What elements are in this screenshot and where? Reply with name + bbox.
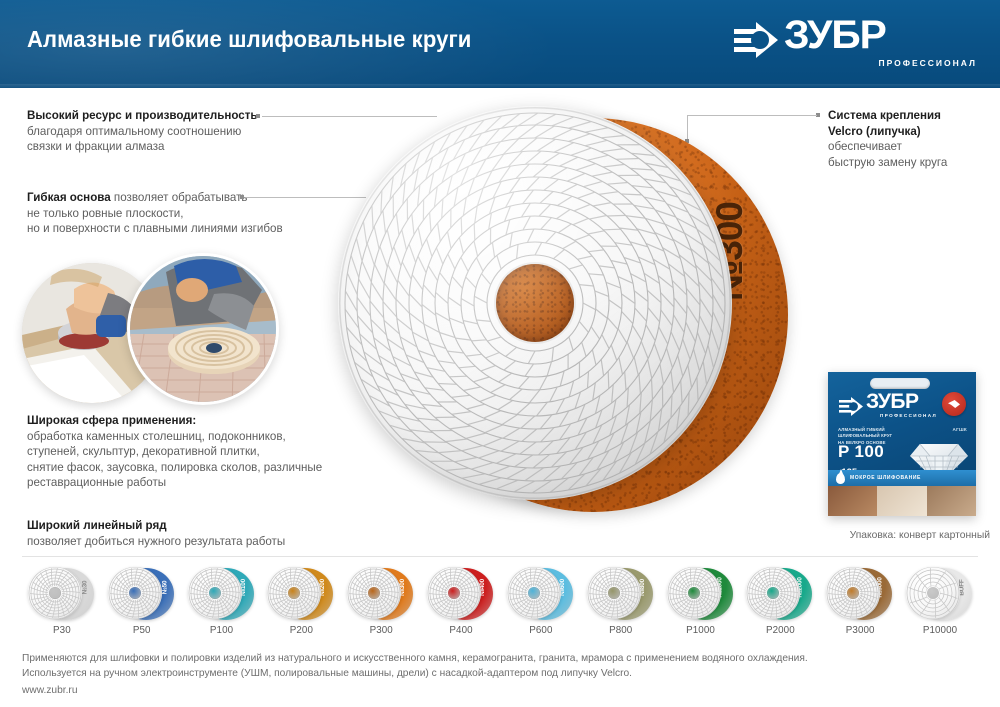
callout-application-scope-title: Широкая сфера применения:	[27, 414, 196, 427]
product-package: ЗУБР ПРОФЕССИОНАЛ АЛМАЗНЫЙ ГИБКИЙ ШЛИФОВ…	[828, 372, 976, 516]
range-divider	[22, 556, 978, 557]
grit-disc-face	[587, 567, 641, 619]
callout-flexible-base-line2: но и поверхности с плавными линиями изги…	[27, 221, 283, 237]
grit-disc-p30: №30	[26, 565, 98, 623]
grit-disc-p200: №200	[265, 565, 337, 623]
grit-disc-face	[188, 567, 242, 619]
grit-disc-face	[347, 567, 401, 619]
logo-subtitle: ПРОФЕССИОНАЛ	[878, 58, 977, 68]
grit-disc-p300: №300	[345, 565, 417, 623]
callout-wide-range-line1: позволяет добиться нужного результата ра…	[27, 534, 285, 550]
grit-item-p200[interactable]: №200P200	[261, 563, 341, 641]
callout-application-scope-line4: реставрационные работы	[27, 475, 322, 491]
package-logo-subtitle: ПРОФЕССИОНАЛ	[880, 413, 937, 418]
package-grit-value: P 100	[838, 442, 884, 462]
callout-application-scope: Широкая сфера применения: обработка каме…	[27, 413, 322, 491]
grit-range-row: №30P30№50P50№100P100№200P200№300P300№400…	[22, 563, 980, 641]
grit-item-p600[interactable]: №600P600	[501, 563, 581, 641]
grit-disc-p100: №100	[186, 565, 258, 623]
grit-item-p400[interactable]: №400P400	[421, 563, 501, 641]
grit-disc-hub	[448, 587, 460, 599]
grit-disc-face	[826, 567, 880, 619]
application-photos	[22, 253, 297, 413]
grit-item-label: P10000	[900, 625, 980, 636]
page-header: Алмазные гибкие шлифовальные круги ЗУБР …	[0, 0, 1000, 88]
grit-disc-p2000: №2000	[744, 565, 816, 623]
grit-disc-p800: №800	[585, 565, 657, 623]
callout-high-resource-title: Высокий ресурс и производительность	[27, 109, 258, 122]
package-band-label: Мокрое шлифование	[850, 475, 921, 481]
footer-notes: Применяются для шлифовки и полировки изд…	[22, 652, 982, 699]
grit-disc-face	[906, 567, 960, 619]
grit-item-label: P2000	[740, 625, 820, 636]
photo-grinder-polishing-tile-art	[130, 256, 279, 405]
footer-website: www.zubr.ru	[22, 684, 982, 699]
grit-disc-p600: №600	[505, 565, 577, 623]
grit-disc-p50: №50	[106, 565, 178, 623]
grit-disc-hub	[209, 587, 221, 599]
callout-wide-range: Широкий линейный ряд позволяет добиться …	[27, 518, 285, 549]
callout-high-resource-line2: связки и фракции алмаза	[27, 139, 258, 155]
callout-flexible-base-title: Гибкая основа	[27, 191, 111, 204]
callout-velcro-line1: обеспечивает	[828, 139, 947, 155]
callout-velcro-title-line1: Система крепления	[828, 109, 941, 122]
connector-dot-flexible-base	[240, 195, 244, 199]
callout-application-scope-line2: ступеней, скульптур, декоративной плитки…	[27, 444, 322, 460]
footer-line1: Применяются для шлифовки и полировки изд…	[22, 652, 982, 667]
package-caption: Упаковка: конверт картонный	[790, 530, 990, 541]
grit-disc-p10000: BUFF	[904, 565, 976, 623]
page-title: Алмазные гибкие шлифовальные круги	[27, 26, 471, 53]
grit-disc-face	[746, 567, 800, 619]
grit-item-label: P30	[22, 625, 102, 636]
logo-wordmark: ЗУБР	[784, 13, 886, 57]
grit-disc-p3000: №3000	[824, 565, 896, 623]
grit-disc-p400: №400	[425, 565, 497, 623]
callout-wide-range-title: Широкий линейный ряд	[27, 519, 167, 532]
callout-flexible-base-tail: позволяет обрабатывать	[111, 191, 248, 204]
package-logo-wordmark: ЗУБР	[866, 390, 919, 414]
callout-velcro-line2: быструю замену круга	[828, 155, 947, 171]
grit-item-label: P600	[501, 625, 581, 636]
package-photo-marble	[877, 486, 926, 516]
grit-disc-mark: №50	[161, 581, 168, 595]
callout-application-scope-line3: снятие фасок, заусовка, полировка сколов…	[27, 460, 322, 476]
package-wet-grinding-band: Мокрое шлифование	[828, 470, 976, 486]
pad-center-hub	[496, 264, 574, 342]
package-quality-seal-icon	[942, 392, 966, 416]
grit-item-label: P1000	[661, 625, 741, 636]
water-drop-icon	[836, 473, 845, 484]
callout-flexible-base-line1: не только ровные плоскости,	[27, 206, 283, 222]
callout-flexible-base: Гибкая основа позволяет обрабатывать не …	[27, 190, 283, 237]
grit-item-label: P400	[421, 625, 501, 636]
grit-item-p300[interactable]: №300P300	[341, 563, 421, 641]
package-hang-hole	[870, 378, 930, 389]
grit-disc-face	[28, 567, 82, 619]
grit-item-p1000[interactable]: №1000P1000	[661, 563, 741, 641]
grit-disc-face	[108, 567, 162, 619]
connector-dot-high-resource	[256, 114, 260, 118]
grit-disc-face	[507, 567, 561, 619]
brand-logo: ЗУБР ПРОФЕССИОНАЛ	[732, 17, 978, 75]
photo-grinder-polishing-tile	[127, 253, 279, 405]
footer-line2: Используется на ручном электроинструмент…	[22, 667, 982, 682]
grit-item-p100[interactable]: №100P100	[182, 563, 262, 641]
grit-item-p3000[interactable]: №3000P3000	[820, 563, 900, 641]
grit-disc-face	[667, 567, 721, 619]
grit-item-p800[interactable]: №800P800	[581, 563, 661, 641]
callout-velcro-mount: Система крепления Velcro (липучка) обесп…	[828, 108, 947, 170]
callout-high-resource-line1: благодаря оптимальному соотношению	[27, 124, 258, 140]
grit-item-label: P200	[261, 625, 341, 636]
grit-item-label: P50	[102, 625, 182, 636]
grit-item-label: P300	[341, 625, 421, 636]
package-arrow-logo-icon	[838, 396, 864, 417]
grit-item-label: P3000	[820, 625, 900, 636]
package-photo-granite	[828, 486, 877, 516]
grit-item-p2000[interactable]: №2000P2000	[740, 563, 820, 641]
infographic-sheet: Алмазные гибкие шлифовальные круги ЗУБР …	[0, 0, 1000, 707]
arrow-logo-icon	[732, 20, 780, 60]
grit-disc-hub	[528, 587, 540, 599]
grit-disc-hub	[688, 587, 700, 599]
package-photo-stone	[927, 486, 976, 516]
package-photo-strip	[828, 486, 976, 516]
grit-disc-face	[267, 567, 321, 619]
grit-item-p30[interactable]: №30P30	[22, 563, 102, 641]
grit-disc-face	[427, 567, 481, 619]
grit-item-label: P800	[581, 625, 661, 636]
grit-item-p50[interactable]: №50P50	[102, 563, 182, 641]
grit-disc-hub	[608, 587, 620, 599]
grit-disc-p1000: №1000	[665, 565, 737, 623]
callout-velcro-title-line2: Velcro (липучка)	[828, 125, 921, 138]
grit-item-p10000[interactable]: BUFFP10000	[900, 563, 980, 641]
grit-disc-hub	[927, 587, 939, 599]
callout-high-resource: Высокий ресурс и производительность благ…	[27, 108, 258, 155]
grit-item-label: P100	[182, 625, 262, 636]
grit-disc-mark: №30	[82, 581, 89, 595]
grit-disc-hub	[129, 587, 141, 599]
diamond-pad-face	[338, 106, 732, 500]
pad-hub-texture	[496, 264, 574, 342]
callout-application-scope-line1: обработка каменных столешниц, подоконник…	[27, 429, 322, 445]
grit-disc-hub	[49, 587, 61, 599]
main-disc-illustration: №300	[338, 106, 768, 526]
